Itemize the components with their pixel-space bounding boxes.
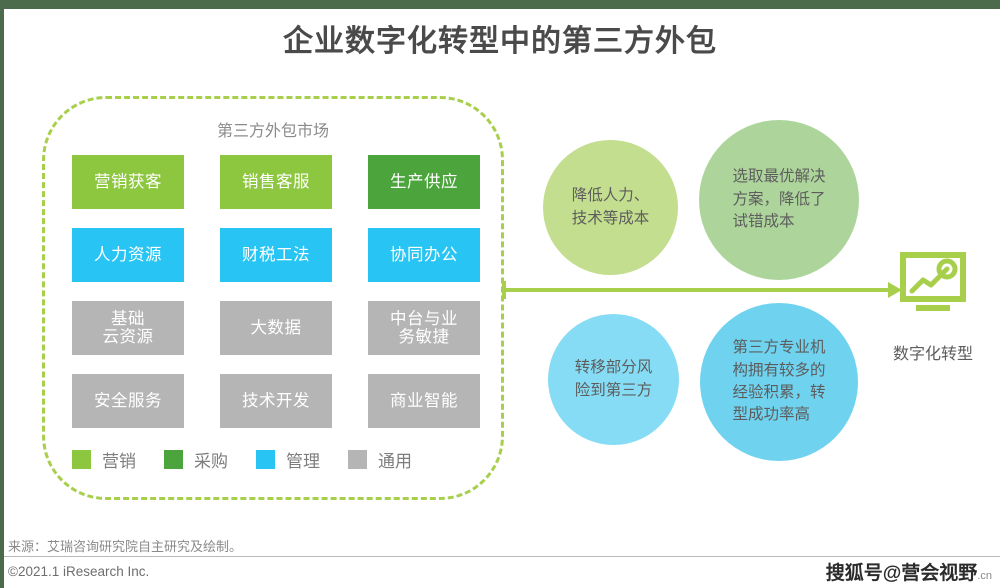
benefit-circle: 转移部分风险到第三方 bbox=[548, 314, 679, 445]
benefit-circle-text: 选取最优解决方案，降低了试错成本 bbox=[726, 166, 831, 233]
infographic-page: 企业数字化转型中的第三方外包 第三方外包市场 营销获客 销售客服 生产供应 人力… bbox=[0, 0, 1000, 588]
service-cell[interactable]: 大数据 bbox=[220, 301, 332, 355]
page-title: 企业数字化转型中的第三方外包 bbox=[0, 16, 1000, 60]
footer-divider bbox=[4, 556, 1000, 557]
service-cell-label: 营销获客 bbox=[94, 173, 162, 191]
benefit-circle: 第三方专业机构拥有较多的经验积累，转型成功率高 bbox=[700, 303, 858, 461]
service-grid: 营销获客 销售客服 生产供应 人力资源 财税工法 协同办公 基础云资源 大数据 … bbox=[72, 155, 480, 428]
service-cell-label: 人力资源 bbox=[94, 246, 162, 264]
service-cell[interactable]: 营销获客 bbox=[72, 155, 184, 209]
service-cell[interactable]: 技术开发 bbox=[220, 374, 332, 428]
service-cell-label: 财税工法 bbox=[242, 246, 310, 264]
service-cell[interactable]: 基础云资源 bbox=[72, 301, 184, 355]
legend-label: 通用 bbox=[378, 447, 412, 472]
service-cell[interactable]: 销售客服 bbox=[220, 155, 332, 209]
service-cell-label: 协同办公 bbox=[390, 246, 458, 264]
legend-item: 营销 bbox=[72, 447, 136, 472]
service-cell-label: 安全服务 bbox=[94, 392, 162, 410]
service-cell[interactable]: 财税工法 bbox=[220, 228, 332, 282]
copyright-note: ©2021.1 iResearch Inc. bbox=[8, 564, 149, 579]
legend-item: 管理 bbox=[256, 447, 320, 472]
watermark-text: 搜狐号@营会视野 bbox=[826, 563, 978, 584]
legend-swatch-icon bbox=[256, 450, 275, 469]
service-cell[interactable]: 商业智能 bbox=[368, 374, 480, 428]
watermark: 搜狐号@营会视野.cn bbox=[826, 558, 992, 585]
market-label: 第三方外包市场 bbox=[42, 117, 504, 141]
service-cell[interactable]: 协同办公 bbox=[368, 228, 480, 282]
service-cell-label: 中台与业务敏捷 bbox=[390, 310, 458, 347]
benefit-circle-text: 降低人力、技术等成本 bbox=[566, 185, 656, 230]
benefit-circle: 降低人力、技术等成本 bbox=[543, 140, 678, 275]
flow-arrow-line bbox=[502, 288, 892, 292]
service-cell[interactable]: 人力资源 bbox=[72, 228, 184, 282]
legend-swatch-icon bbox=[164, 450, 183, 469]
service-cell[interactable]: 生产供应 bbox=[368, 155, 480, 209]
legend-item: 通用 bbox=[348, 447, 412, 472]
service-cell-label: 生产供应 bbox=[390, 173, 458, 191]
benefit-circle: 选取最优解决方案，降低了试错成本 bbox=[699, 120, 859, 280]
legend-swatch-icon bbox=[348, 450, 367, 469]
benefit-circle-text: 转移部分风险到第三方 bbox=[569, 357, 659, 402]
legend-item: 采购 bbox=[164, 447, 228, 472]
benefit-circle-text: 第三方专业机构拥有较多的经验积累，转型成功率高 bbox=[726, 337, 831, 427]
top-accent-bar bbox=[0, 0, 1000, 9]
service-cell-label: 基础云资源 bbox=[103, 310, 154, 347]
watermark-suffix: .cn bbox=[977, 570, 992, 582]
result-label: 数字化转型 bbox=[866, 340, 1000, 364]
left-accent-bar bbox=[0, 0, 4, 588]
service-cell-label: 商业智能 bbox=[390, 392, 458, 410]
legend-label: 管理 bbox=[286, 447, 320, 472]
legend-label: 营销 bbox=[102, 447, 136, 472]
service-cell-label: 销售客服 bbox=[242, 173, 310, 191]
legend: 营销 采购 管理 通用 bbox=[72, 447, 482, 472]
source-note: 来源：艾瑞咨询研究院自主研究及绘制。 bbox=[8, 536, 242, 555]
service-cell-label: 大数据 bbox=[251, 319, 302, 337]
monitor-growth-magnifier-icon bbox=[900, 252, 966, 318]
legend-swatch-icon bbox=[72, 450, 91, 469]
service-cell[interactable]: 中台与业务敏捷 bbox=[368, 301, 480, 355]
legend-label: 采购 bbox=[194, 447, 228, 472]
service-cell[interactable]: 安全服务 bbox=[72, 374, 184, 428]
service-cell-label: 技术开发 bbox=[242, 392, 310, 410]
